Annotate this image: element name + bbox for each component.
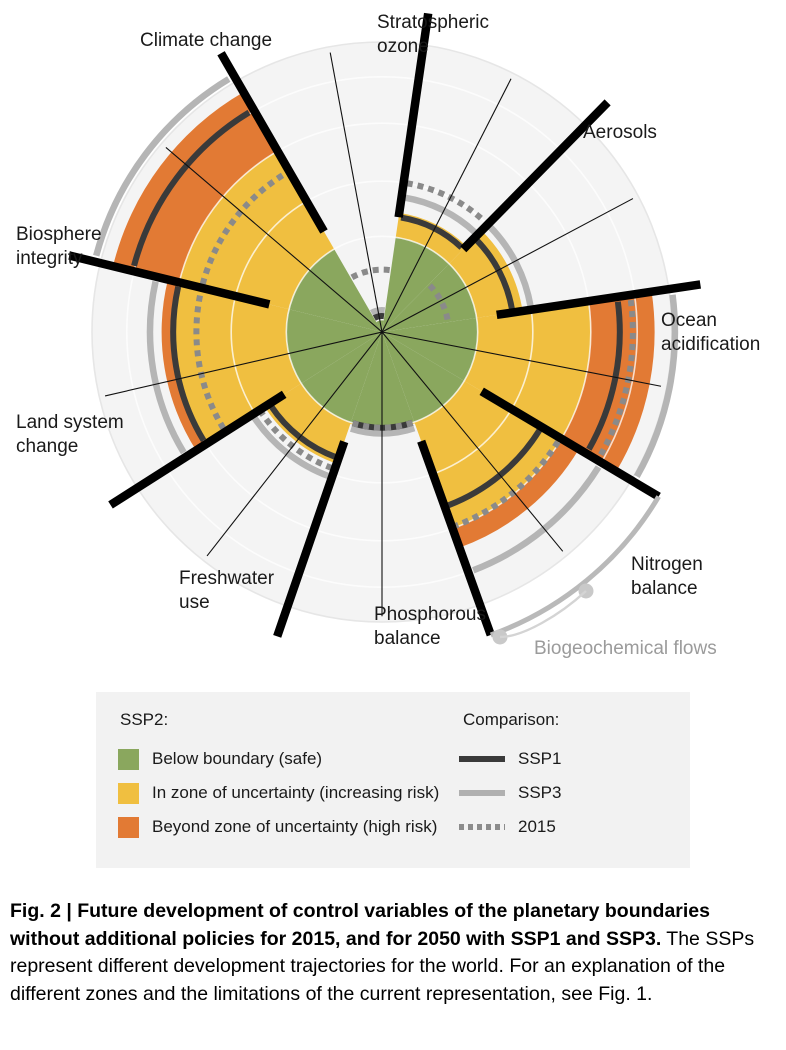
group-label-biogeochemical-flows: Biogeochemical flows — [534, 638, 717, 659]
legend-comparison-header: Comparison: — [463, 710, 668, 730]
legend-zone-label: Below boundary (safe) — [152, 749, 322, 769]
legend-line-label: SSP3 — [518, 783, 561, 803]
legend-ssp2-header: SSP2: — [120, 710, 437, 730]
legend-comparison-column: Comparison: SSP1 SSP3 2015 — [459, 710, 668, 844]
legend-swatch-high-risk — [118, 817, 139, 838]
legend-zone-row: In zone of uncertainty (increasing risk) — [118, 776, 437, 810]
caption-bold: Fig. 2 | Future development of control v… — [10, 900, 710, 950]
legend-ssp2-column: SSP2: Below boundary (safe) In zone of u… — [118, 710, 437, 844]
figure-caption: Fig. 2 | Future development of control v… — [10, 898, 776, 1009]
legend-line-ssp1 — [459, 756, 505, 762]
legend-line-row: SSP3 — [459, 776, 668, 810]
legend-line-ssp3 — [459, 790, 505, 796]
axis-label-nitrogen-balance: Nitrogenbalance — [631, 554, 703, 599]
legend-swatch-uncertain — [118, 783, 139, 804]
legend-zone-label: In zone of uncertainty (increasing risk) — [152, 783, 439, 803]
axis-label-phosphorous-balance: Phosphorousbalance — [374, 604, 486, 649]
axis-label-aerosols: Aerosols — [583, 122, 657, 143]
axis-label-land-system-change: Land systemchange — [16, 412, 124, 457]
legend-line-row: 2015 — [459, 810, 668, 844]
axis-label-climate-change: Climate change — [140, 30, 272, 51]
legend-zone-row: Beyond zone of uncertainty (high risk) — [118, 810, 437, 844]
legend-zone-label: Beyond zone of uncertainty (high risk) — [152, 817, 437, 837]
legend-swatch-safe — [118, 749, 139, 770]
radar-svg: Climate changeStratosphericozoneAerosols… — [0, 0, 786, 680]
radar-group-labels: Biogeochemical flows — [534, 638, 717, 659]
legend-zone-row: Below boundary (safe) — [118, 742, 437, 776]
legend-line-label: 2015 — [518, 817, 556, 837]
legend-line-2015 — [459, 824, 505, 830]
legend-line-label: SSP1 — [518, 749, 561, 769]
legend-line-row: SSP1 — [459, 742, 668, 776]
figure-2: Climate changeStratosphericozoneAerosols… — [0, 0, 786, 1050]
radar-chart: Climate changeStratosphericozoneAerosols… — [0, 0, 786, 680]
legend-panel: SSP2: Below boundary (safe) In zone of u… — [96, 692, 690, 868]
